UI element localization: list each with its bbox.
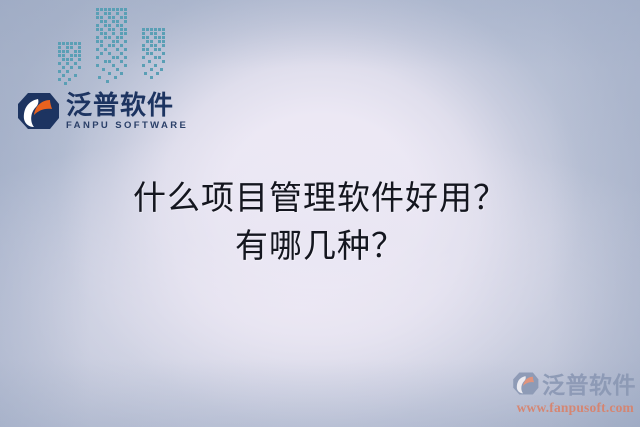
brand-name-en: FANPU SOFTWARE <box>66 121 188 131</box>
brand-lockup: 泛普软件 FANPU SOFTWARE <box>16 2 206 138</box>
watermark-name-cn: 泛普软件 <box>542 366 636 400</box>
watermark: 泛普软件 www.fanpusoft.com <box>486 367 636 423</box>
watermark-logo-row: 泛普软件 <box>486 367 636 399</box>
fanpu-watermark-logo-icon <box>512 371 539 396</box>
wordmark: 泛普软件 FANPU SOFTWARE <box>16 86 206 136</box>
watermark-url: www.fanpusoft.com <box>486 400 636 416</box>
slide-canvas: 泛普软件 FANPU SOFTWARE 什么项目管理软件好用？ 有哪几种？ 泛普… <box>0 0 640 427</box>
headline: 什么项目管理软件好用？ 有哪几种？ <box>0 175 640 271</box>
headline-line-2: 有哪几种？ <box>0 223 640 271</box>
fanpu-logo-icon <box>16 91 60 131</box>
headline-line-1: 什么项目管理软件好用？ <box>0 175 640 223</box>
brand-name-cn: 泛普软件 <box>66 92 188 118</box>
pixel-buildings-icon <box>56 2 186 86</box>
